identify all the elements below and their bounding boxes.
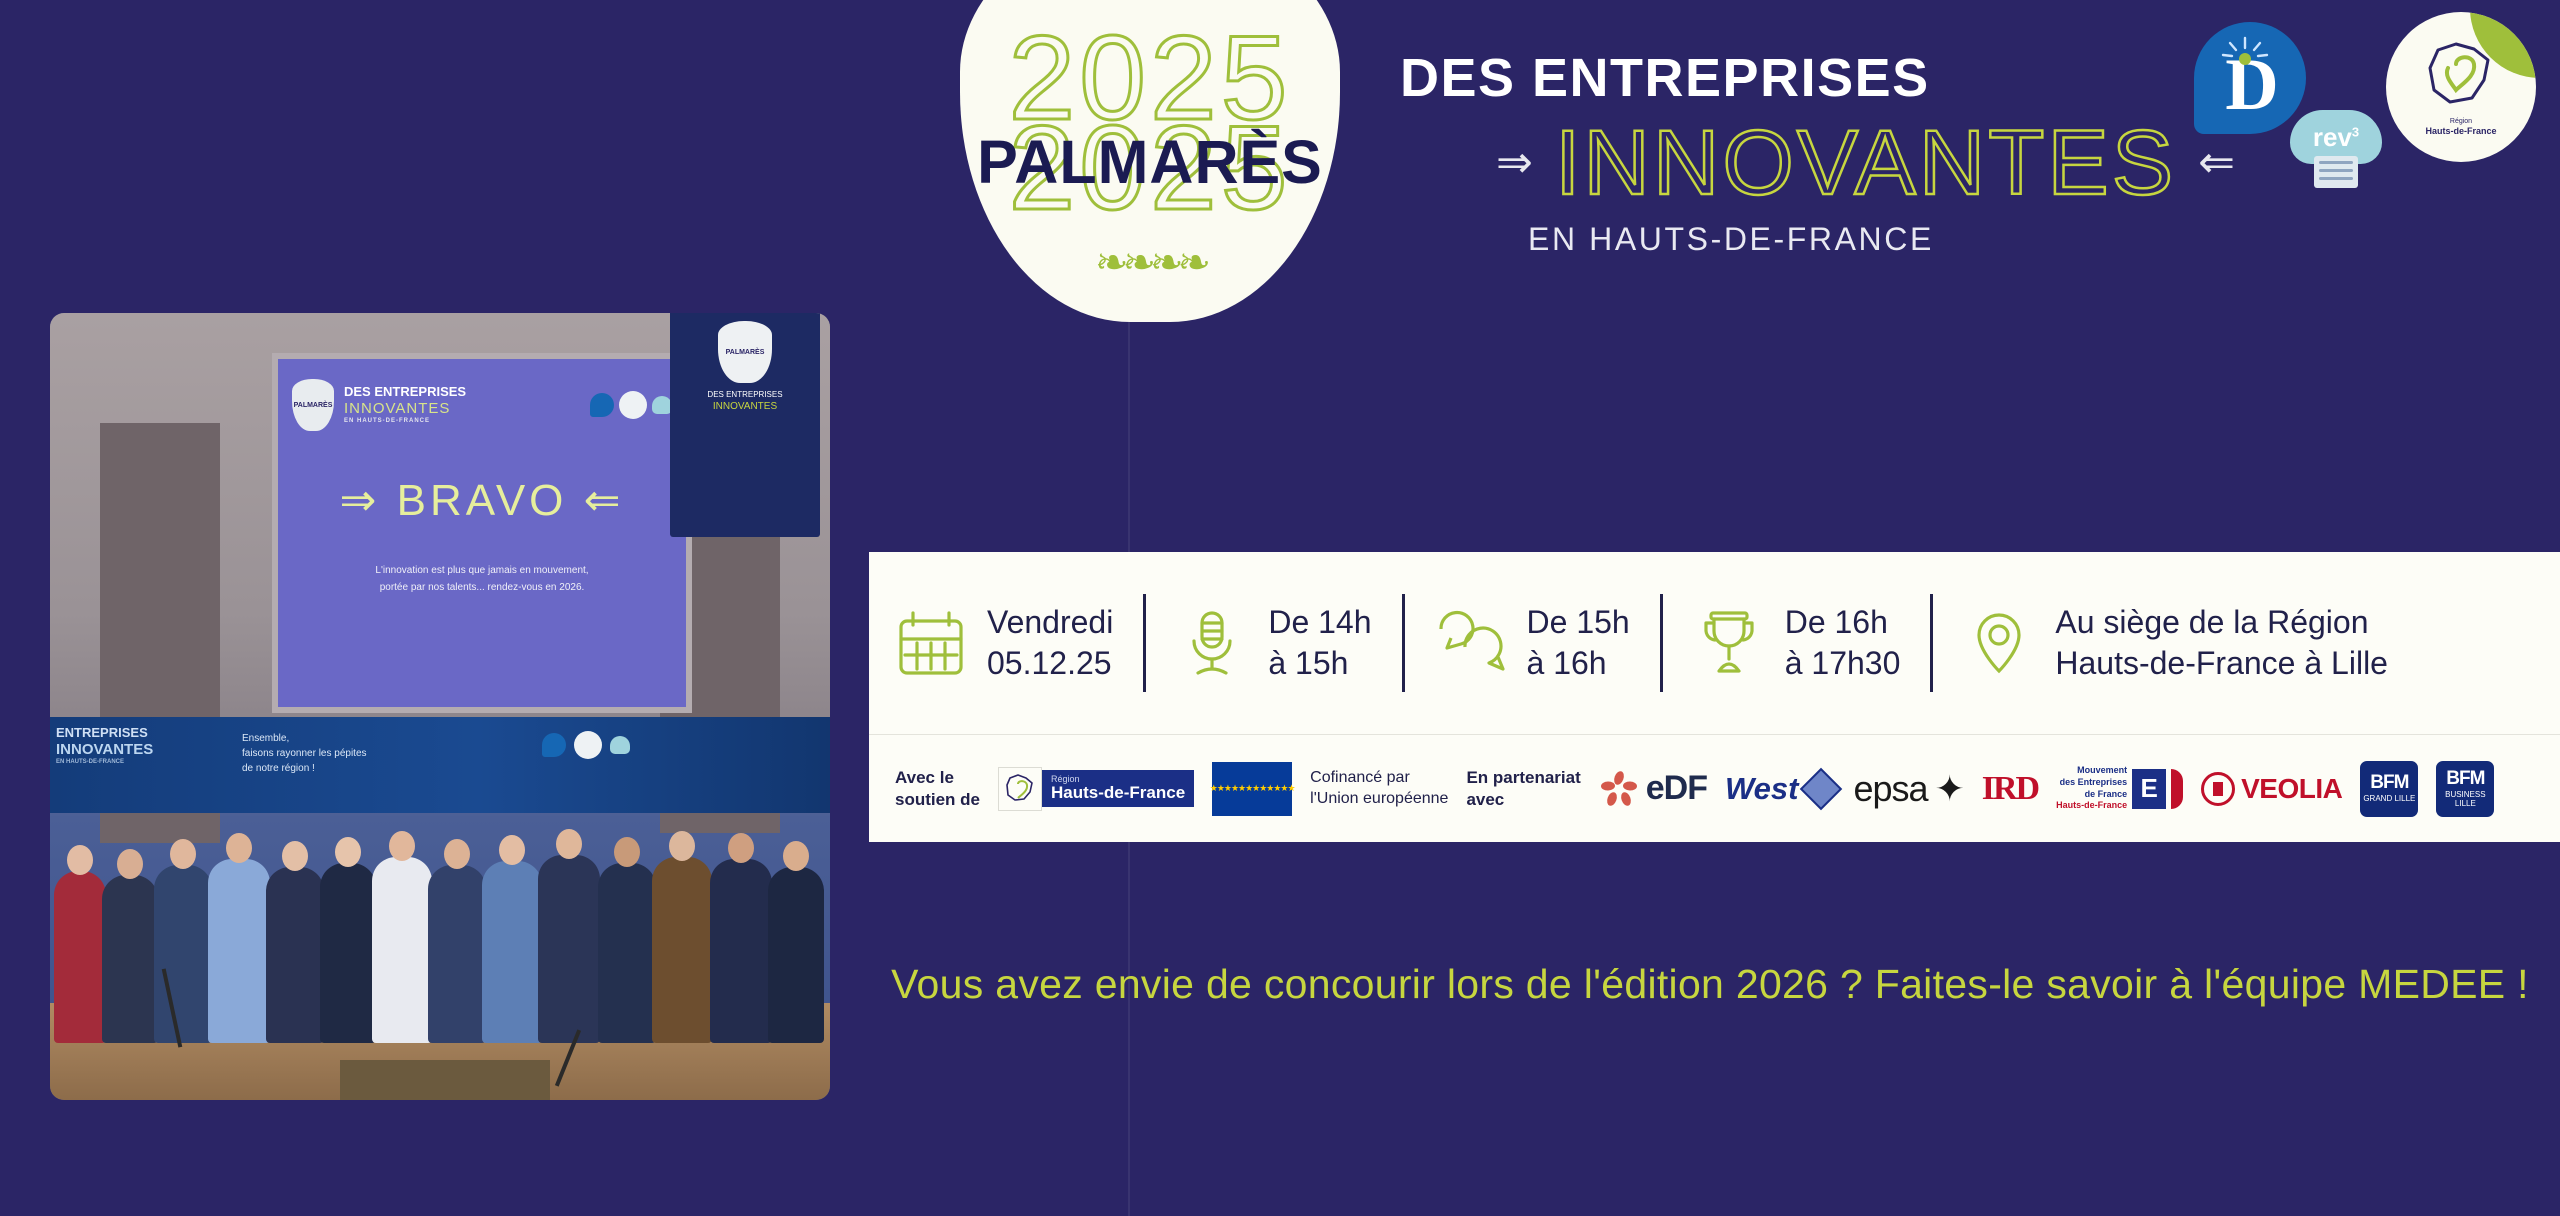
region-sponsor-text: Région Hauts-de-France (1042, 770, 1194, 807)
partner-label-line-2: avec (1466, 790, 1504, 809)
photo-caption-line-2: portée par nos talents... rendez-vous en… (375, 579, 588, 596)
region-logo-name: Hauts-de-France (2425, 126, 2496, 136)
photo-region-logo (619, 391, 647, 419)
rev3-label: rev (2313, 122, 2352, 152)
info-discussion-line-1: De 15h (1527, 604, 1630, 640)
edf-pinwheel-icon (1599, 769, 1639, 809)
info-location-line-2: Hauts-de-France à Lille (2055, 645, 2388, 681)
info-discussion-text: De 15h à 16h (1527, 602, 1630, 684)
microphone-icon (1176, 607, 1248, 679)
eu-funding-text: Cofinancé par l'Union européenne (1310, 768, 1448, 810)
photo-screen-caption: L'innovation est plus que jamais en mouv… (345, 562, 618, 596)
ird-wordmark: IRD (1982, 770, 2038, 808)
photo-banner-medee-logo (542, 733, 566, 757)
photo-screen-title: DES ENTREPRISES INNOVANTES EN HAUTS-DE-F… (344, 385, 466, 424)
location-pin-icon (1963, 607, 2035, 679)
veolia-wordmark: VEOLIA (2241, 773, 2342, 805)
epsa-logo[interactable]: epsa ✦ (1854, 768, 1964, 810)
divider-2 (1402, 594, 1405, 692)
epsa-wordmark: epsa (1854, 768, 1928, 810)
photo-screen-title-2: INNOVANTES (344, 400, 466, 417)
edf-logo[interactable]: eDF (1599, 769, 1707, 809)
medef-logo[interactable]: Mouvement des Entreprises de France Haut… (2056, 765, 2183, 812)
bfm-grand-lille-mark: BFM (2370, 773, 2408, 792)
eu-funding-line-2: l'Union européenne (1310, 790, 1448, 807)
ird-logo[interactable]: IRD (1982, 770, 2038, 808)
bfm-grand-lille-sub: GRAND LILLE (2363, 795, 2415, 804)
photo-banner-c3: de notre région ! (242, 761, 367, 776)
info-date-line-1: Vendredi (987, 604, 1113, 640)
info-item-location: Au siège de la Région Hauts-de-France à … (1963, 602, 2388, 684)
medef-line-2: des Entreprises (2060, 777, 2128, 787)
info-keynote-text: De 14h à 15h (1268, 602, 1371, 684)
rev3-exponent: 3 (2352, 124, 2359, 139)
edf-wordmark: eDF (1646, 769, 1707, 808)
event-schedule-row: Vendredi 05.12.25 (869, 552, 2560, 734)
region-sponsor-logo[interactable]: Région Hauts-de-France (998, 765, 1194, 813)
event-photo: PALMARÈS DES ENTREPRISES INNOVANTES EN H… (50, 313, 830, 1100)
divider-3 (1660, 594, 1663, 692)
photo-banner-rev3-logo (610, 736, 630, 754)
info-awards-text: De 16h à 17h30 (1785, 602, 1901, 684)
veolia-circle-icon (2201, 772, 2235, 806)
support-label-line-1: Avec le (895, 768, 954, 787)
west-logo[interactable]: West (1725, 771, 1836, 807)
event-info-card: Vendredi 05.12.25 (862, 552, 2560, 842)
bfm-business-logo[interactable]: BFM BUSINESS LILLE (2436, 761, 2494, 817)
palmares-badge: 2025 2025 PALMARÈS ❧❧❧❧ (960, 0, 1340, 322)
photo-banner-c2: faisons rayonner les pépites (242, 746, 367, 761)
info-location-line-1: Au siège de la Région (2055, 604, 2368, 640)
region-sponsor-name: Hauts-de-France (1051, 783, 1185, 802)
info-keynote-line-2: à 15h (1268, 645, 1348, 681)
photo-rollup-banner: PALMARÈS DES ENTREPRISES INNOVANTES (670, 313, 820, 537)
photo-banner-l2: INNOVANTES (56, 741, 153, 759)
support-label-line-2: soutien de (895, 790, 980, 809)
eu-funding-line-1: Cofinancé par (1310, 769, 1410, 786)
info-awards-line-1: De 16h (1785, 604, 1888, 640)
photo-banner-region-logo (574, 731, 602, 759)
region-map-icon (998, 767, 1042, 811)
photo-banner-c1: Ensemble, (242, 731, 367, 746)
west-diamond-icon (1799, 767, 1841, 809)
medef-text: Mouvement des Entreprises de France Haut… (2056, 765, 2127, 812)
divider-4 (1930, 594, 1933, 692)
info-keynote-line-1: De 14h (1268, 604, 1371, 640)
photo-screen-title-1: DES ENTREPRISES (344, 384, 466, 399)
medef-e-mark: E (2132, 769, 2166, 809)
badge-title: PALMARÈS (977, 127, 1323, 197)
medef-line-3: de France (2085, 789, 2128, 799)
calendar-icon (895, 607, 967, 679)
photo-banner-l3: EN HAUTS-DE-FRANCE (56, 759, 153, 766)
photo-medee-logo (590, 393, 614, 417)
photo-rollup-l2: INNOVANTES (670, 400, 820, 414)
region-logo-small: Région (2425, 118, 2496, 126)
medef-line-4: Hauts-de-France (2056, 800, 2127, 812)
photo-caption-line-1: L'innovation est plus que jamais en mouv… (375, 562, 588, 579)
region-hauts-de-france-logo[interactable]: Région Hauts-de-France (2386, 12, 2536, 162)
eu-stars: ★★★★★★★★★★★★ (1212, 762, 1292, 816)
support-label: Avec le soutien de (895, 767, 980, 810)
photo-banner-center-text: Ensemble, faisons rayonner les pépites d… (242, 731, 367, 776)
medef-line-1: Mouvement (2077, 765, 2127, 775)
partner-label: En partenariat avec (1466, 767, 1580, 810)
rev3-logo[interactable]: rev3 (2290, 110, 2382, 188)
poster-root: 2025 2025 PALMARÈS ❧❧❧❧ DES ENTREPRISES … (0, 0, 2560, 1216)
veolia-logo[interactable]: VEOLIA (2201, 772, 2342, 806)
footer-cta-text: Vous avez envie de concourir lors de l'é… (880, 955, 2540, 1013)
region-logo-text: Région Hauts-de-France (2425, 118, 2496, 136)
photo-group-of-people (50, 783, 830, 1043)
photo-rollup-l1: DES ENTREPRISES (707, 390, 782, 399)
arrow-right-icon: ⇒ (1496, 141, 1533, 185)
info-item-keynote: De 14h à 15h (1176, 602, 1371, 684)
photo-rollup-text: DES ENTREPRISES INNOVANTES (670, 389, 820, 414)
rev3-trunk-icon (2314, 156, 2358, 188)
hero-line-2: INNOVANTES (1555, 115, 2176, 212)
photo-banner-logos (542, 731, 630, 759)
photo-projection-screen: PALMARÈS DES ENTREPRISES INNOVANTES EN H… (272, 353, 692, 713)
epsa-spark-icon: ✦ (1935, 768, 1964, 810)
info-date-line-2: 05.12.25 (987, 645, 1112, 681)
hero-line-3: EN HAUTS-DE-FRANCE (1528, 221, 2400, 258)
sparkle-icon (2220, 36, 2270, 70)
laurel-icon: ❧❧❧❧ (960, 239, 1340, 286)
sponsor-row: Avec le soutien de Région Hauts-de-Franc… (869, 734, 2560, 842)
west-wordmark: West (1725, 771, 1799, 807)
speech-bubbles-icon (1435, 607, 1507, 679)
info-item-discussion: De 15h à 16h (1435, 602, 1630, 684)
photo-banner-l1: ENTREPRISES (56, 725, 148, 740)
info-date-text: Vendredi 05.12.25 (987, 602, 1113, 684)
bfm-business-sub: BUSINESS LILLE (2436, 791, 2494, 809)
bfm-business-mark: BFM (2446, 769, 2484, 788)
trophy-icon (1693, 607, 1765, 679)
info-awards-line-2: à 17h30 (1785, 645, 1901, 681)
info-location-text: Au siège de la Région Hauts-de-France à … (2055, 602, 2388, 684)
info-item-date: Vendredi 05.12.25 (895, 602, 1113, 684)
divider-1 (1143, 594, 1146, 692)
photo-banner-left-text: ENTREPRISES INNOVANTES EN HAUTS-DE-FRANC… (56, 725, 153, 766)
info-discussion-line-2: à 16h (1527, 645, 1607, 681)
photo-screen-logos (590, 391, 672, 419)
info-item-awards: De 16h à 17h30 (1693, 602, 1901, 684)
partner-label-line-1: En partenariat (1466, 768, 1580, 787)
photo-table (340, 1060, 550, 1100)
bfm-grand-lille-logo[interactable]: BFM GRAND LILLE (2360, 761, 2418, 817)
photo-screen-badge: PALMARÈS (292, 379, 334, 431)
eu-flag-icon: ★★★★★★★★★★★★ (1212, 762, 1292, 816)
medef-red-mark (2171, 769, 2183, 809)
photo-rollup-badge: PALMARÈS (718, 321, 772, 383)
photo-rev3-logo (652, 396, 672, 414)
photo-screen-title-3: EN HAUTS-DE-FRANCE (344, 418, 466, 425)
photo-screen-bravo: ⇒ BRAVO ⇐ (340, 475, 625, 526)
header-logo-group: D Région Hauts-de-France rev3 (2166, 6, 2536, 191)
